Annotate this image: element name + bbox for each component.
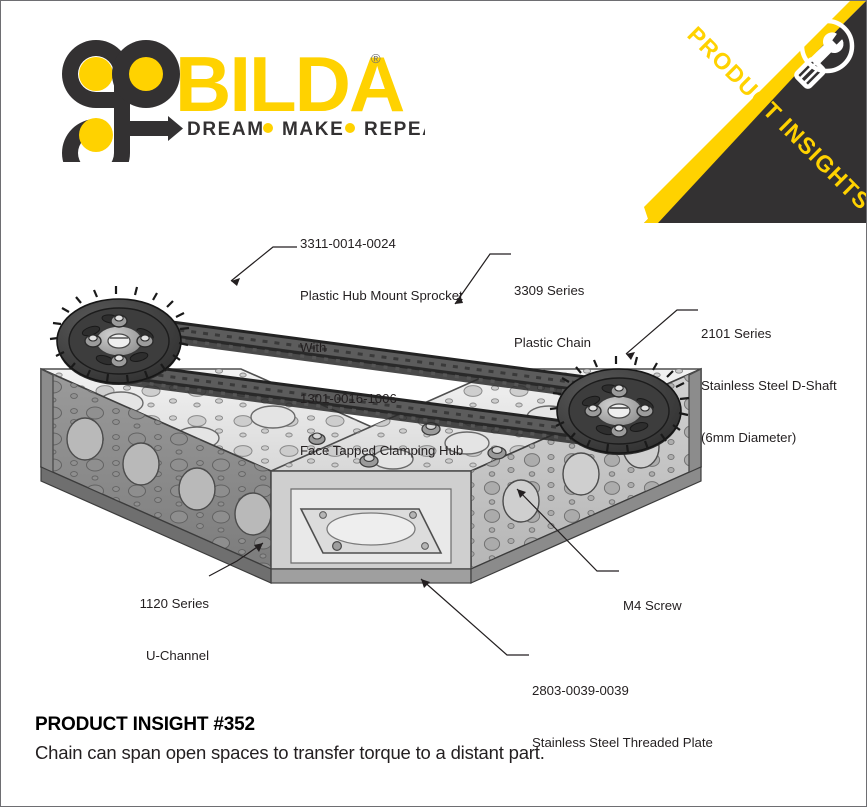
callout-u-channel: 1120 Series U-Channel [79,561,209,699]
callout-plastic-chain-line-1: 3309 Series [514,282,591,299]
callout-d-shaft-line-2: Stainless Steel D-Shaft [701,377,837,394]
svg-text:MAKE: MAKE [282,119,344,140]
caption-title: PRODUCT INSIGHT #352 [35,714,825,736]
callout-d-shaft: 2101 Series Stainless Steel D-Shaft (6mm… [701,291,837,480]
callout-u-channel-line-2: U-Channel [79,647,209,664]
registered-mark: ® [371,51,381,66]
leader-d-shaft [626,310,698,354]
callout-plastic-chain: 3309 Series Plastic Chain [514,248,591,386]
callout-m4-screw: M4 Screw [623,563,682,649]
logo-wordmark-bilda: BILDA [175,40,404,128]
product-insight-page: BILDA ® DREAM MAKE REPEAT PRODUCT INSIGH… [0,0,867,807]
callout-sprocket-hub-line-1: 3311-0014-0024 [300,235,463,252]
threaded-plate [301,509,441,553]
gobilda-logo-svg: BILDA ® DREAM MAKE REPEAT [35,27,425,162]
lightbulb-wrench-icon [784,15,860,101]
d-shaft [608,404,630,418]
leader-sprocket-hub [231,247,297,281]
callout-sprocket-hub-line-4: 1301-0016-1006 [300,390,463,407]
callout-d-shaft-line-1: 2101 Series [701,325,837,342]
caption-body: Chain can span open spaces to transfer t… [35,742,825,764]
svg-text:BILDA: BILDA [175,40,404,128]
callout-d-shaft-line-3: (6mm Diameter) [701,429,837,446]
caption-block: PRODUCT INSIGHT #352 Chain can span open… [35,714,825,764]
callout-sprocket-hub-line-5: Face Tapped Clamping Hub [300,442,463,459]
callout-threaded-plate-line-1: 2803-0039-0039 [532,682,713,699]
svg-text:REPEAT: REPEAT [364,119,425,140]
callout-u-channel-line-1: 1120 Series [79,595,209,612]
svg-text:DREAM: DREAM [187,119,265,140]
logo-mark-o [112,40,180,108]
callout-sprocket-hub-line-3: With [300,339,463,356]
callout-sprocket-hub: 3311-0014-0024 Plastic Hub Mount Sprocke… [300,201,463,493]
callout-sprocket-hub-line-2: Plastic Hub Mount Sprocket [300,287,463,304]
gobilda-logo: BILDA ® DREAM MAKE REPEAT [35,27,425,162]
leader-plastic-chain [455,254,511,304]
logo-tagline: DREAM MAKE REPEAT [187,119,425,140]
callout-plastic-chain-line-2: Plastic Chain [514,334,591,351]
callout-m4-screw-line-1: M4 Screw [623,597,682,614]
leader-threaded-plate [421,579,529,655]
